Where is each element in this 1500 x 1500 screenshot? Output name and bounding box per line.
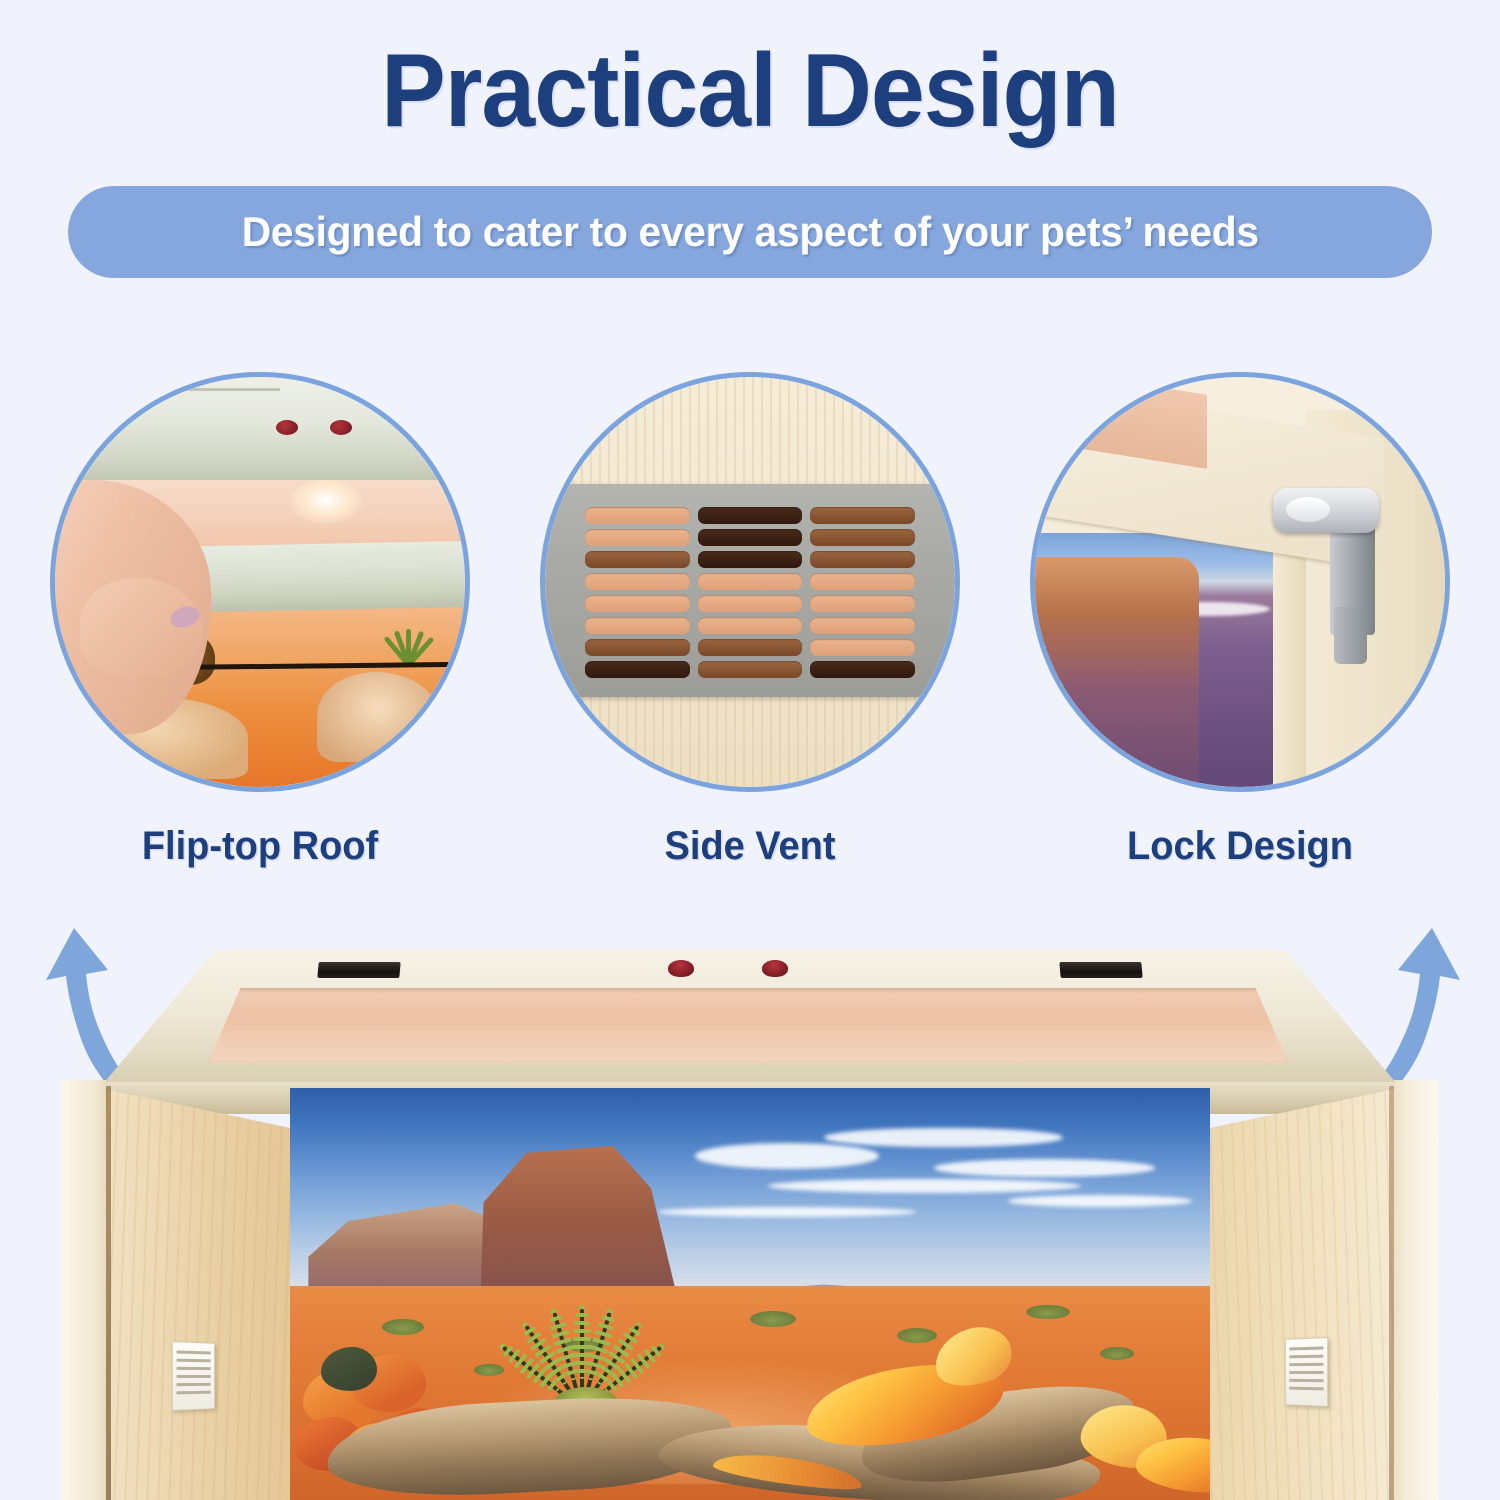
feature-image-lock-design — [1030, 372, 1450, 792]
feature-image-side-vent — [540, 372, 960, 792]
hinge-icon — [1059, 962, 1142, 978]
side-vent-right — [1285, 1337, 1328, 1407]
feature-label-flip-top-roof: Flip-top Roof — [61, 824, 460, 869]
feature-label-side-vent: Side Vent — [551, 824, 950, 869]
plant-decor-icon — [380, 607, 440, 665]
lamp-fitting-icon — [762, 960, 788, 977]
terrarium-interior — [290, 1088, 1210, 1500]
terrarium-body — [62, 1080, 1438, 1500]
hinge-icon — [317, 962, 400, 978]
feature-lock-design: Lock Design — [1030, 372, 1450, 792]
subtitle-banner: Designed to cater to every aspect of you… — [68, 186, 1432, 278]
lamp-fitting-icon — [668, 960, 694, 977]
lid-screen-opening — [208, 988, 1288, 1063]
feature-flip-top-roof: Flip-top Roof — [50, 372, 470, 792]
lock-latch-icon — [1273, 488, 1380, 533]
product-terrarium — [0, 930, 1500, 1500]
fern-plant-decor — [492, 1259, 672, 1409]
feature-circles-row: Flip-top Roof — [0, 372, 1500, 912]
feature-side-vent: Side Vent — [540, 372, 960, 792]
feature-image-flip-top-roof — [50, 372, 470, 792]
feature-label-lock-design: Lock Design — [1041, 824, 1440, 869]
vent-grille-icon — [545, 484, 955, 697]
subtitle-text: Designed to cater to every aspect of you… — [241, 208, 1258, 256]
lamp-fitting-icon — [330, 420, 352, 435]
page-title: Practical Design — [53, 38, 1448, 144]
side-vent-left — [172, 1341, 215, 1411]
